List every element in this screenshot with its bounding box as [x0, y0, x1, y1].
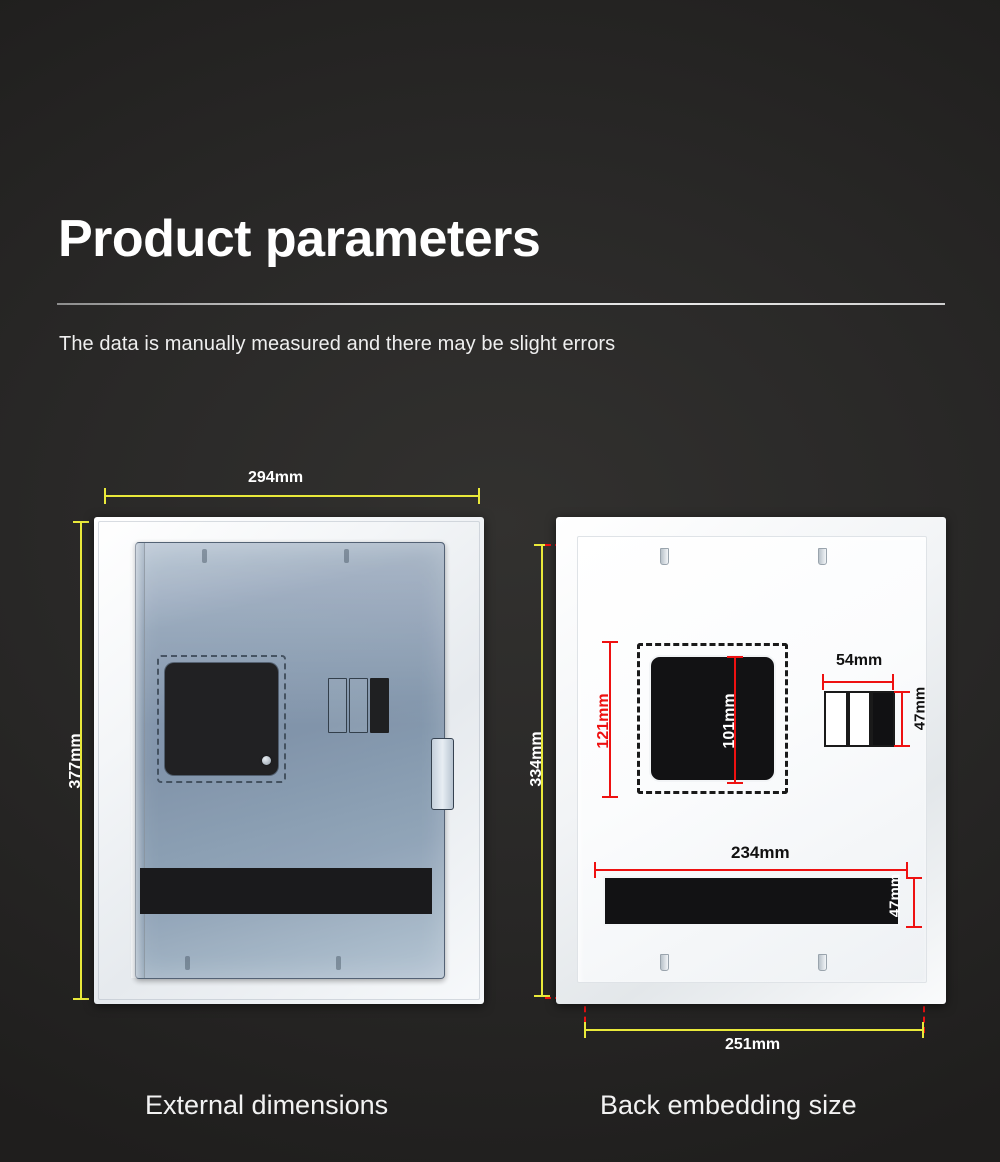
- cover-dent: [185, 956, 190, 970]
- dimension-label-294mm: 294mm: [248, 469, 303, 487]
- product-image-external: [94, 517, 484, 1004]
- back-opening-bar: [603, 876, 900, 926]
- caption-external-dimensions: External dimensions: [145, 1090, 388, 1121]
- mounting-tab: [660, 954, 669, 971]
- page-title: Product parameters: [58, 213, 540, 265]
- breaker-slot-group: [328, 678, 389, 733]
- breaker-slot: [349, 678, 368, 733]
- translucent-cover: [135, 542, 445, 979]
- dimension-line-294mm: [104, 495, 480, 497]
- back-slot: [848, 691, 872, 747]
- back-slot-filled: [871, 691, 895, 747]
- breaker-opening-bar: [140, 868, 432, 914]
- product-parameters-page: { "header": { "title": "Product paramete…: [0, 0, 1000, 1162]
- caption-back-embedding-size: Back embedding size: [600, 1090, 857, 1121]
- dimension-line-54mm: [822, 681, 894, 683]
- mounting-tab: [660, 548, 669, 565]
- mounting-tab: [818, 954, 827, 971]
- mounting-tab: [818, 548, 827, 565]
- cover-dent: [336, 956, 341, 970]
- dimension-label-251mm: 251mm: [725, 1036, 780, 1054]
- header-divider: [57, 303, 945, 305]
- dimension-line-47mm-slots: [901, 691, 903, 747]
- cover-dent: [202, 549, 207, 563]
- door-latch-handle: [431, 738, 454, 810]
- dimension-label-121mm: 121mm: [595, 681, 613, 761]
- dimension-line-47mm-bar: [913, 877, 915, 928]
- dimension-line-251mm: [584, 1029, 924, 1031]
- dimension-label-334mm: 334mm: [528, 719, 546, 799]
- breaker-slot: [328, 678, 347, 733]
- meter-window: [165, 663, 278, 775]
- page-subtitle: The data is manually measured and there …: [59, 333, 615, 356]
- dimension-label-101mm: 101mm: [721, 681, 739, 761]
- back-slot-group: [824, 691, 895, 747]
- dimension-label-47mm-slots: 47mm: [912, 669, 929, 749]
- breaker-slot-filled: [370, 678, 389, 733]
- back-slot: [824, 691, 848, 747]
- screw-icon: [262, 756, 271, 765]
- dimension-label-54mm: 54mm: [836, 652, 882, 670]
- dimension-label-47mm-bar: 47mm: [887, 856, 904, 936]
- dimension-label-377mm: 377mm: [67, 721, 85, 801]
- embedding-window: [649, 655, 776, 782]
- dimension-line-234mm: [594, 869, 908, 871]
- dimension-label-234mm: 234mm: [731, 843, 790, 863]
- cover-dent: [344, 549, 349, 563]
